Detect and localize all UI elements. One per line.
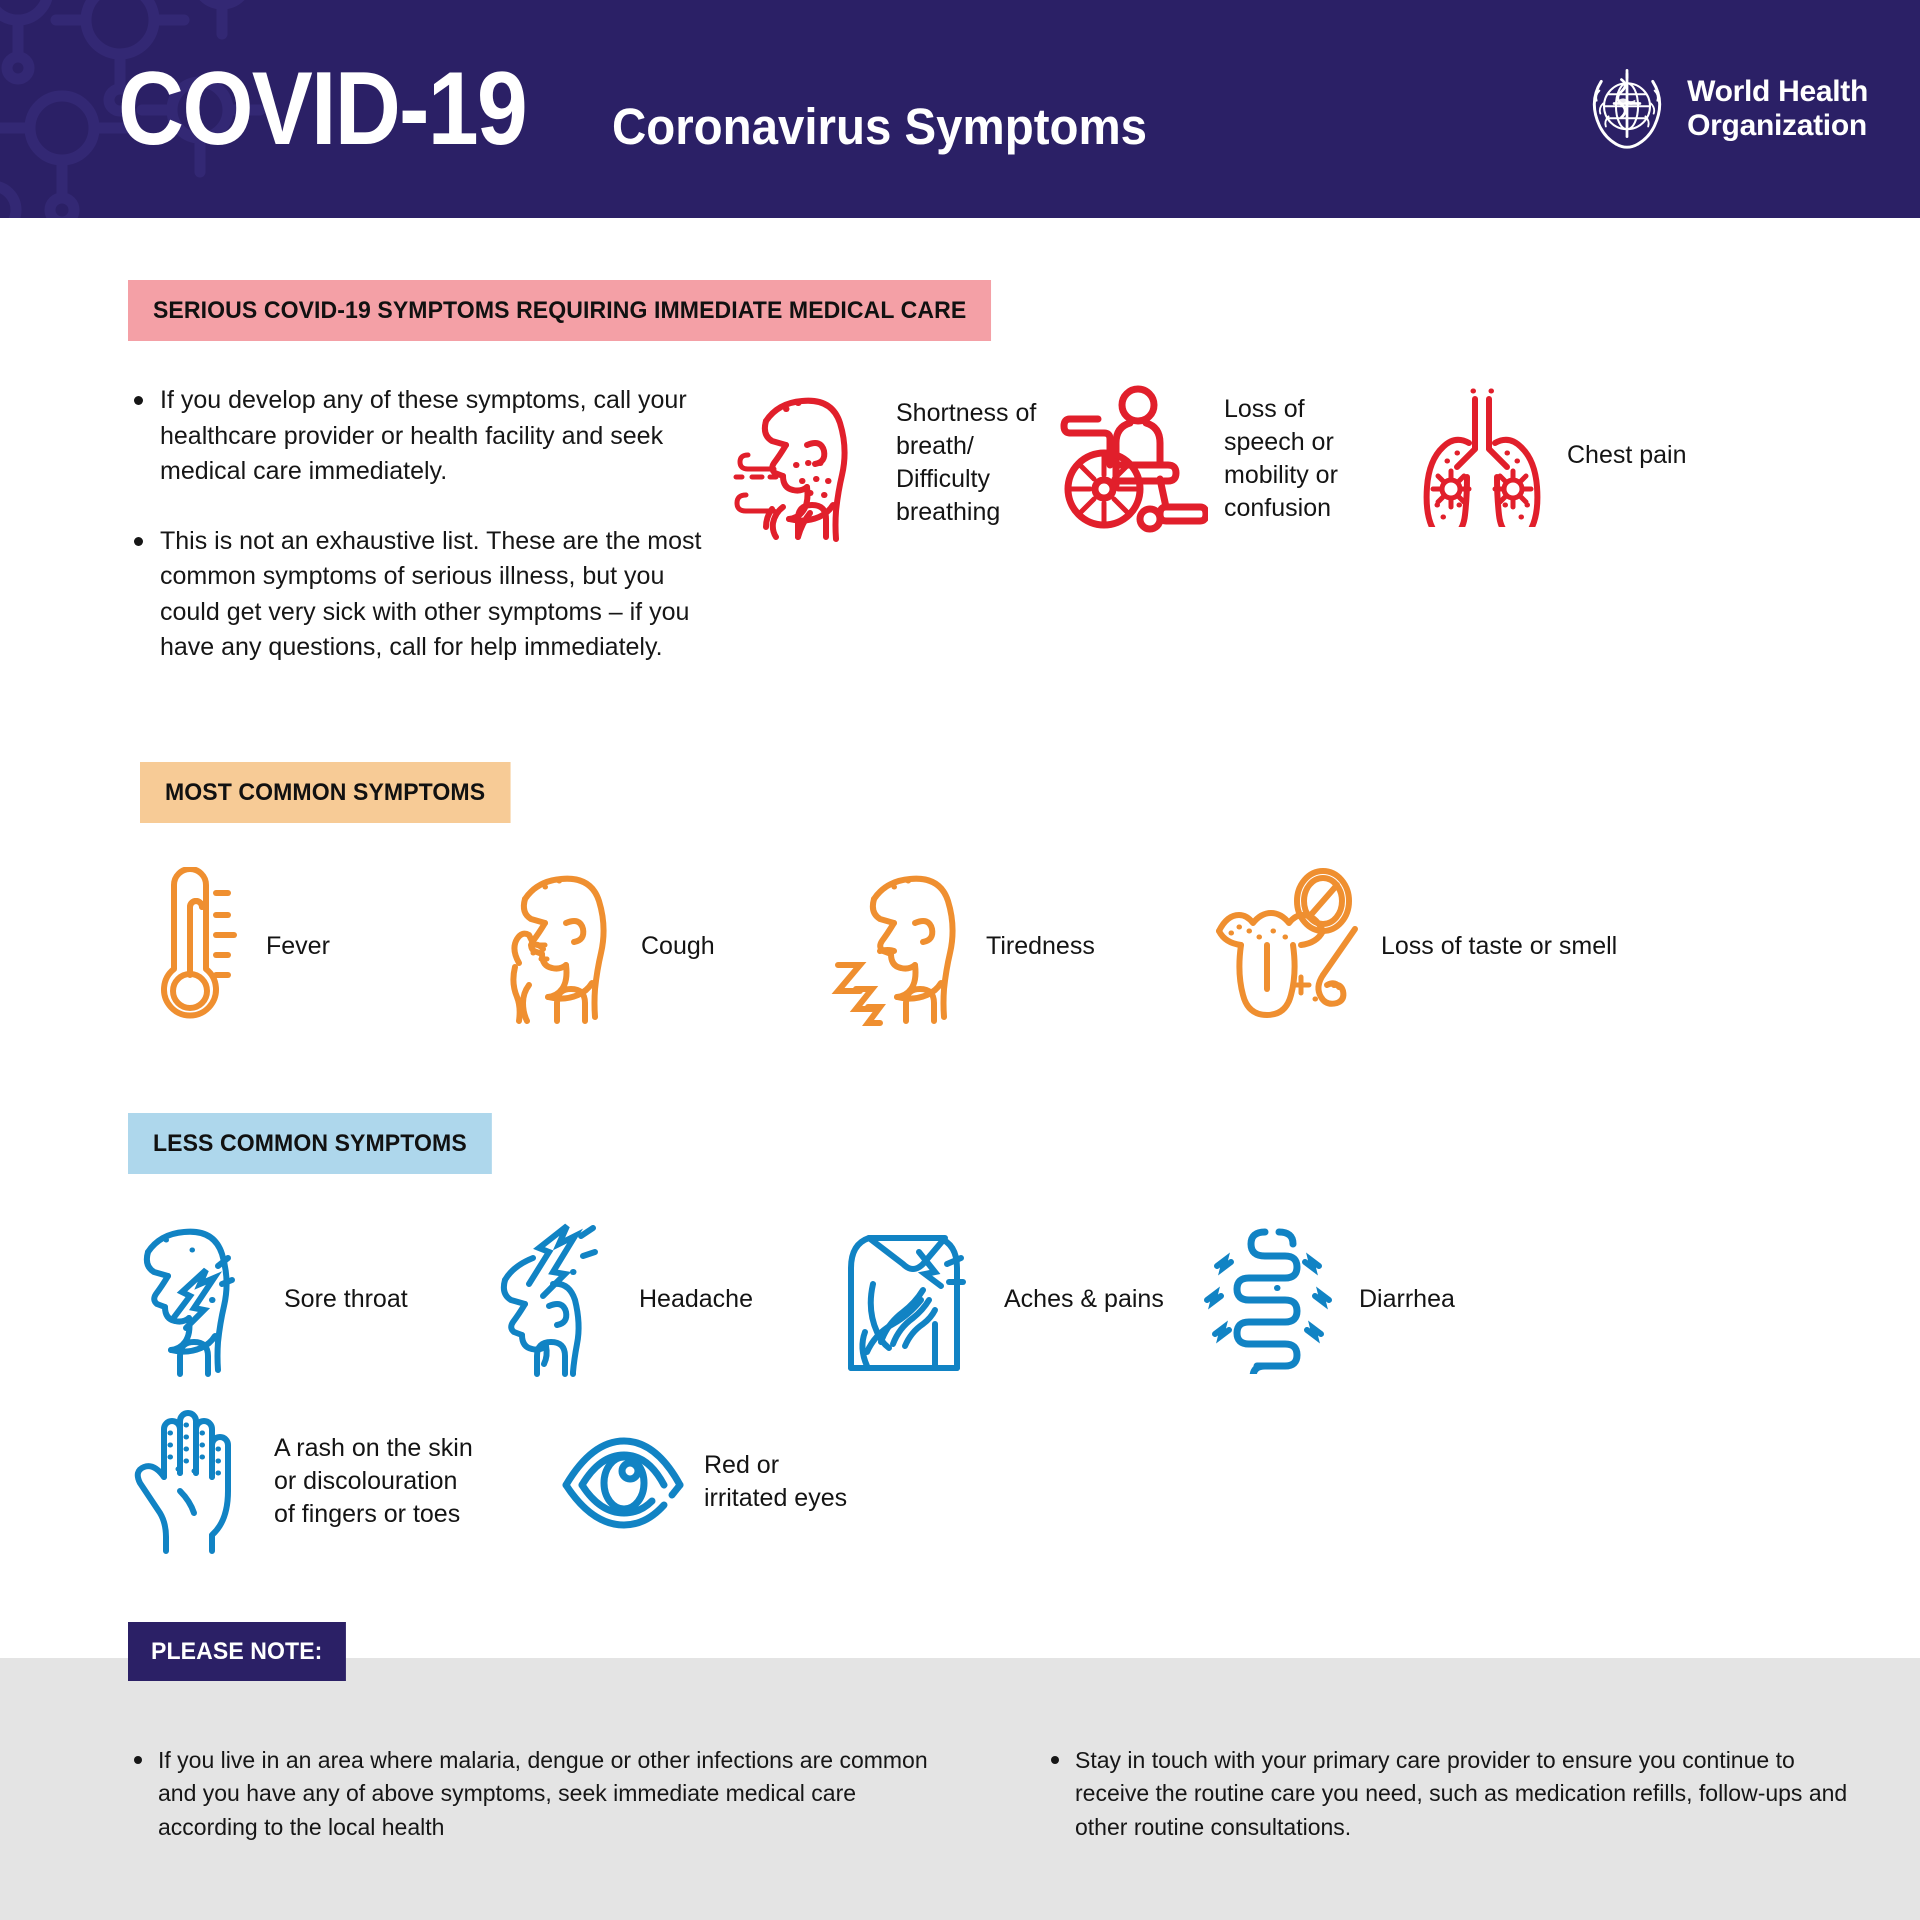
symptom-label: Fever xyxy=(266,930,330,963)
symptom-label: Aches & pains xyxy=(1004,1283,1164,1316)
footer-note-column-left: If you live in an area where malaria, de… xyxy=(128,1744,943,1844)
most-common-symptoms-section: MOST COMMON SYMPTOMS Fever xyxy=(0,666,1920,1027)
cough-icon xyxy=(485,867,625,1027)
symptom-sore-throat: Sore throat xyxy=(128,1222,483,1377)
symptom-headache: Headache xyxy=(483,1222,843,1377)
common-section-banner: MOST COMMON SYMPTOMS xyxy=(140,762,510,823)
symptom-label: Headache xyxy=(639,1283,753,1316)
symptom-loss-of-speech-mobility: Loss of speech or mobility or confusion xyxy=(1058,383,1413,535)
serious-advice-text: If you develop any of these symptoms, ca… xyxy=(128,383,728,666)
symptom-label: Loss of taste or smell xyxy=(1381,930,1617,963)
tiredness-icon xyxy=(830,867,970,1027)
page-header: COVID-19 Coronavirus Symptoms xyxy=(0,0,1920,218)
hand-rash-icon xyxy=(128,1407,258,1557)
list-item: This is not an exhaustive list. These ar… xyxy=(128,524,708,666)
intestine-icon xyxy=(1193,1224,1343,1374)
symptom-red-irritated-eyes: Red or irritated eyes xyxy=(558,1427,908,1537)
symptom-label: Tiredness xyxy=(986,930,1095,963)
page-title: COVID-19 xyxy=(118,57,526,161)
less-common-symptoms-section: LESS COMMON SYMPTOMS xyxy=(0,1027,1920,1557)
list-item: If you develop any of these symptoms, ca… xyxy=(128,383,708,490)
footer-note-section: PLEASE NOTE: If you live in an area wher… xyxy=(0,1658,1920,1920)
symptom-shortness-of-breath: Shortness of breath/ Difficulty breathin… xyxy=(728,383,1058,543)
symptom-tiredness: Tiredness xyxy=(830,867,1205,1027)
symptom-label: Loss of speech or mobility or confusion xyxy=(1224,393,1338,525)
header-title-group: COVID-19 Coronavirus Symptoms xyxy=(118,57,1187,161)
symptom-label: Red or irritated eyes xyxy=(704,1449,847,1515)
common-symptom-icons: Fever xyxy=(140,867,1920,1027)
page-subtitle: Coronavirus Symptoms xyxy=(612,101,1147,152)
lungs-icon xyxy=(1413,383,1551,527)
symptom-cough: Cough xyxy=(485,867,830,1027)
symptom-rash-on-skin: A rash on the skin or discolouration of … xyxy=(128,1407,558,1557)
sore-throat-icon xyxy=(128,1222,268,1377)
who-emblem-icon xyxy=(1581,63,1673,155)
symptom-label: Shortness of breath/ Difficulty breathin… xyxy=(896,397,1036,529)
less-common-symptom-icons-row1: Sore throat xyxy=(128,1222,1920,1377)
serious-section-banner: SERIOUS COVID-19 SYMPTOMS REQUIRING IMME… xyxy=(128,280,991,341)
symptom-aches-and-pains: Aches & pains xyxy=(843,1224,1193,1374)
list-item: If you live in an area where malaria, de… xyxy=(128,1744,943,1844)
symptom-loss-of-taste-or-smell: Loss of taste or smell xyxy=(1205,867,1635,1027)
serious-symptom-icons: Shortness of breath/ Difficulty breathin… xyxy=(728,383,1703,543)
infographic-page: COVID-19 Coronavirus Symptoms xyxy=(0,0,1920,1920)
taste-smell-loss-icon xyxy=(1205,867,1365,1027)
symptom-chest-pain: Chest pain xyxy=(1413,383,1703,527)
who-name-label: World Health Organization xyxy=(1687,75,1868,142)
less-section-banner: LESS COMMON SYMPTOMS xyxy=(128,1113,492,1174)
headache-icon xyxy=(483,1222,623,1377)
aches-pains-icon xyxy=(843,1224,988,1374)
less-common-symptom-icons-row2: A rash on the skin or discolouration of … xyxy=(128,1407,1920,1557)
symptom-label: Chest pain xyxy=(1567,439,1687,472)
breathing-difficulty-icon xyxy=(728,383,880,543)
symptom-label: A rash on the skin or discolouration of … xyxy=(274,1432,473,1531)
who-logo: World Health Organization xyxy=(1581,63,1868,155)
symptom-diarrhea: Diarrhea xyxy=(1193,1224,1493,1374)
symptom-fever: Fever xyxy=(140,867,485,1027)
serious-symptoms-section: SERIOUS COVID-19 SYMPTOMS REQUIRING IMME… xyxy=(0,218,1920,666)
symptom-label: Sore throat xyxy=(284,1283,408,1316)
please-note-banner: PLEASE NOTE: xyxy=(128,1622,346,1681)
list-item: Stay in touch with your primary care pro… xyxy=(1045,1744,1860,1844)
thermometer-icon xyxy=(140,867,250,1027)
wheelchair-icon xyxy=(1058,383,1208,535)
footer-note-column-right: Stay in touch with your primary care pro… xyxy=(1003,1744,1860,1844)
symptom-label: Cough xyxy=(641,930,715,963)
symptom-label: Diarrhea xyxy=(1359,1283,1455,1316)
eye-icon xyxy=(558,1427,688,1537)
